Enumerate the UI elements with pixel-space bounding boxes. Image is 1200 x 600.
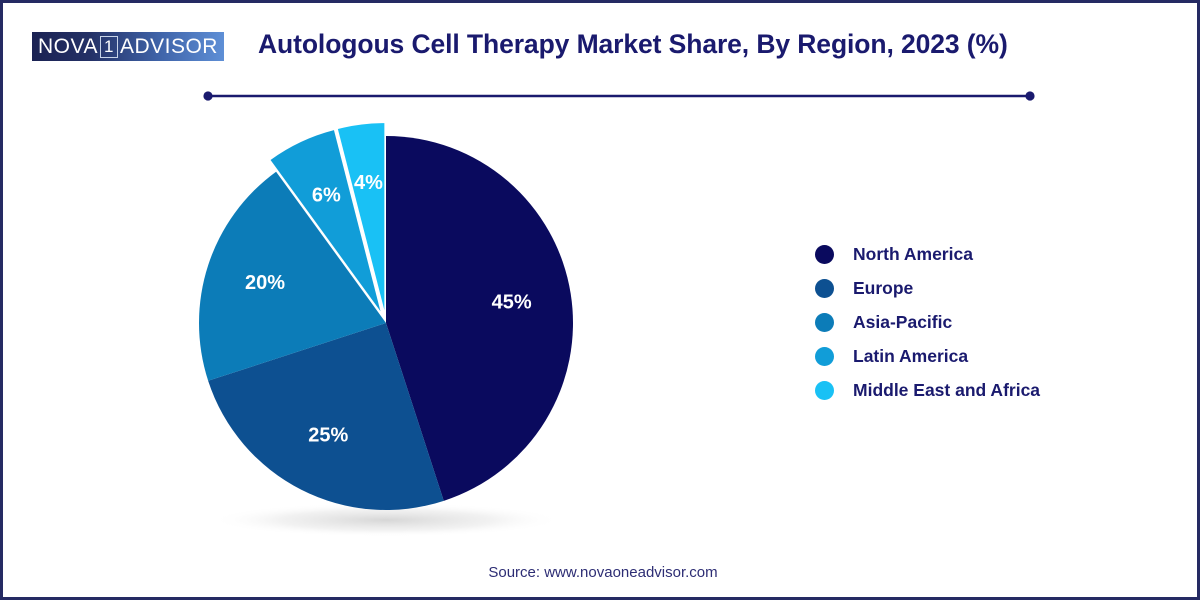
- pie-slice-label: 25%: [308, 425, 348, 447]
- chart-page: NOVA1ADVISOR Autologous Cell Therapy Mar…: [0, 0, 1200, 600]
- legend-color-swatch: [815, 245, 834, 264]
- legend-item[interactable]: Europe: [815, 271, 1040, 305]
- legend-color-swatch: [815, 279, 834, 298]
- legend-item[interactable]: Asia-Pacific: [815, 305, 1040, 339]
- chart-legend: North AmericaEuropeAsia-PacificLatin Ame…: [815, 237, 1040, 407]
- legend-color-swatch: [815, 381, 834, 400]
- legend-color-swatch: [815, 347, 834, 366]
- legend-item-label: Asia-Pacific: [853, 312, 952, 333]
- pie-slice-label: 6%: [312, 184, 341, 206]
- legend-item-label: Europe: [853, 278, 913, 299]
- logo-text: NOVA1ADVISOR: [38, 35, 218, 59]
- pie-slice-label: 20%: [245, 272, 285, 294]
- source-attribution: Source: www.novaoneadvisor.com: [3, 564, 1200, 581]
- chart-title: Autologous Cell Therapy Market Share, By…: [258, 29, 1188, 60]
- pie-slice-label: 4%: [354, 172, 383, 194]
- logo-text-advisor: ADVISOR: [120, 35, 218, 59]
- legend-item[interactable]: Middle East and Africa: [815, 373, 1040, 407]
- nova-advisor-logo: NOVA1ADVISOR: [32, 32, 224, 61]
- pie-slices: [199, 123, 573, 510]
- legend-item[interactable]: Latin America: [815, 339, 1040, 373]
- legend-item[interactable]: North America: [815, 237, 1040, 271]
- legend-color-swatch: [815, 313, 834, 332]
- logo-text-nova: NOVA: [38, 35, 98, 59]
- logo-badge-one: 1: [100, 36, 118, 58]
- legend-item-label: Latin America: [853, 346, 968, 367]
- pie-chart: 45%25%20%6%4%: [153, 98, 633, 538]
- legend-item-label: Middle East and Africa: [853, 380, 1040, 401]
- pie-slice-label: 45%: [492, 291, 532, 313]
- legend-item-label: North America: [853, 244, 973, 265]
